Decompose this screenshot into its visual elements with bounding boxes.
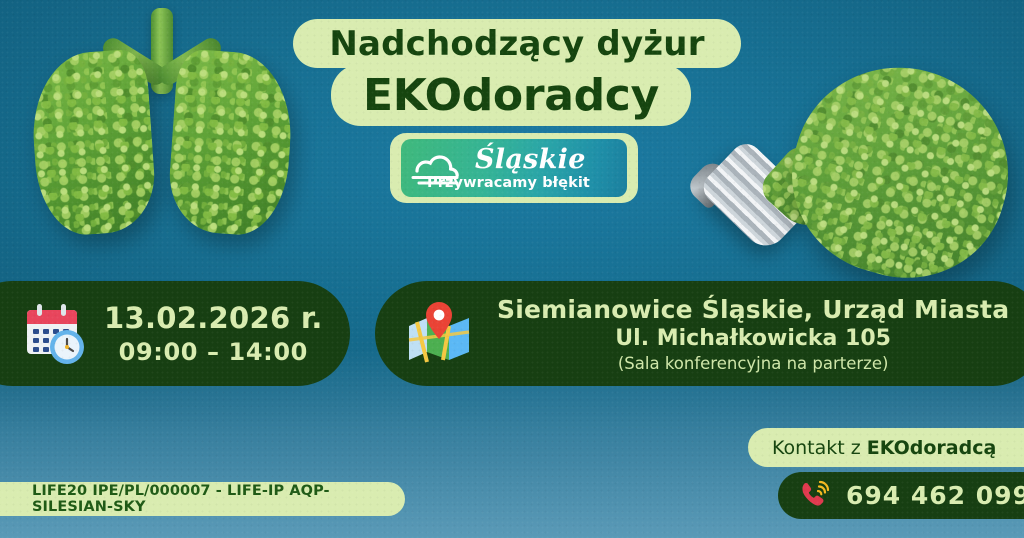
- slaskie-logo-title: Śląskie: [475, 146, 617, 173]
- contact-label-strong: EKOdoradcą: [867, 437, 997, 459]
- location-city: Siemianowice Śląskie, Urząd Miasta: [497, 295, 1009, 324]
- location-panel: Siemianowice Śląskie, Urząd Miasta Ul. M…: [375, 281, 1024, 386]
- lightbulb-glass: [769, 42, 1024, 301]
- leaf-lungs-illustration: [20, 8, 310, 238]
- date-panel: 13.02.2026 r. 09:00 – 14:00: [0, 281, 350, 386]
- location-street: Ul. Michałkowicka 105: [615, 326, 891, 351]
- lung-left: [28, 48, 158, 238]
- footer-project-pill: LIFE20 IPE/PL/000007 - LIFE-IP AQP-SILES…: [0, 482, 405, 516]
- cloud-sun-icon: [409, 147, 469, 189]
- phone-pill[interactable]: 694 462 099: [778, 472, 1024, 519]
- event-date: 13.02.2026 r.: [104, 301, 323, 335]
- contact-label-prefix: Kontakt z: [772, 437, 861, 459]
- event-time: 09:00 – 14:00: [119, 338, 308, 366]
- slaskie-logo-badge: Śląskie Przywracamy błękit: [401, 139, 627, 197]
- contact-label-pill: Kontakt z EKOdoradcą: [748, 428, 1024, 467]
- title-line-1-pill: Nadchodzący dyżur: [293, 19, 741, 68]
- slaskie-logo: Śląskie Przywracamy błękit: [390, 133, 638, 203]
- calendar-clock-icon: [22, 301, 88, 367]
- map-pin-icon: [405, 300, 475, 368]
- lung-right: [166, 48, 296, 238]
- location-room-note: (Sala konferencyjna na parterze): [618, 354, 889, 373]
- ringing-phone-icon: [798, 480, 832, 512]
- page-title-line-1: Nadchodzący dyżur: [329, 24, 704, 64]
- contact-phone-number: 694 462 099: [846, 481, 1024, 510]
- page-title-line-2: EKOdoradcy: [363, 70, 659, 121]
- title-line-2-pill: EKOdoradcy: [331, 64, 691, 126]
- footer-project-code: LIFE20 IPE/PL/000007 - LIFE-IP AQP-SILES…: [32, 483, 405, 515]
- poster-canvas: Nadchodzący dyżur EKOdoradcy Śląskie Prz…: [0, 0, 1024, 538]
